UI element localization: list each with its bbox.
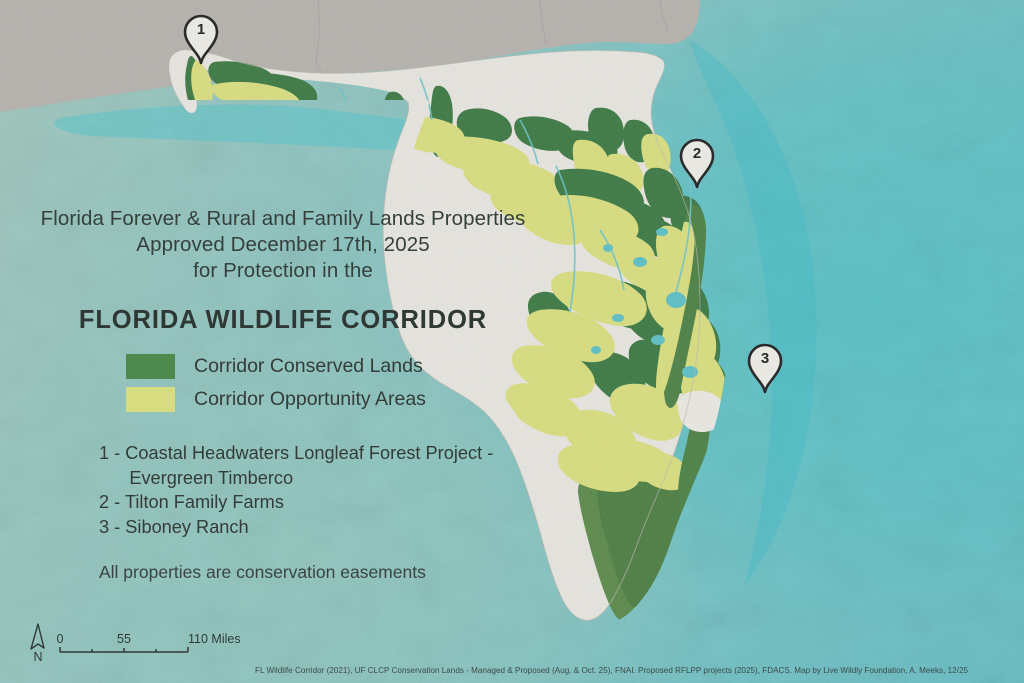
map-credits: FL Wildlife Corridor (2021), UF CLCP Con… (255, 666, 1015, 675)
legend-item-conserved: Corridor Conserved Lands (126, 351, 566, 381)
title-line-3: for Protection in the (0, 258, 566, 284)
property-list: 1 - Coastal Headwaters Longleaf Forest P… (0, 441, 566, 539)
list-item: 3 - Siboney Ranch (99, 515, 566, 540)
title-line-2: Approved December 17th, 2025 (0, 232, 566, 258)
title-line-1: Florida Forever & Rural and Family Lands… (0, 206, 566, 232)
easement-note: All properties are conservation easement… (0, 562, 566, 583)
scale-label-55: 55 (117, 632, 131, 646)
map-pin-3[interactable]: 3 (744, 341, 786, 397)
legend-swatch-conserved (126, 354, 175, 379)
pin-label-3: 3 (744, 350, 786, 367)
corridor-heading: FLORIDA WILDLIFE CORRIDOR (0, 306, 566, 335)
legend-item-opportunity: Corridor Opportunity Areas (126, 384, 566, 414)
legend-label-opportunity: Corridor Opportunity Areas (194, 388, 426, 411)
map-canvas: Florida Forever & Rural and Family Lands… (0, 0, 1024, 683)
pin-label-2: 2 (676, 145, 718, 162)
list-item: 1 - Coastal Headwaters Longleaf Forest P… (99, 441, 566, 490)
scale-label-110: 110 Miles (188, 632, 241, 646)
list-item: 2 - Tilton Family Farms (99, 490, 566, 515)
map-pin-1[interactable]: 1 (180, 12, 222, 68)
north-arrow-label: N (33, 650, 42, 664)
scale-and-north: N 0 55 110 Miles (18, 618, 248, 669)
map-pin-2[interactable]: 2 (676, 136, 718, 192)
legend-swatch-opportunity (126, 387, 175, 412)
pin-label-1: 1 (180, 21, 222, 38)
north-arrow-icon (31, 624, 44, 649)
map-title: Florida Forever & Rural and Family Lands… (0, 206, 566, 284)
scale-label-0: 0 (57, 632, 64, 646)
scale-bar-icon (60, 647, 188, 652)
legend-label-conserved: Corridor Conserved Lands (194, 355, 423, 378)
map-info-panel: Florida Forever & Rural and Family Lands… (0, 206, 566, 583)
map-legend: Corridor Conserved Lands Corridor Opport… (0, 351, 566, 414)
